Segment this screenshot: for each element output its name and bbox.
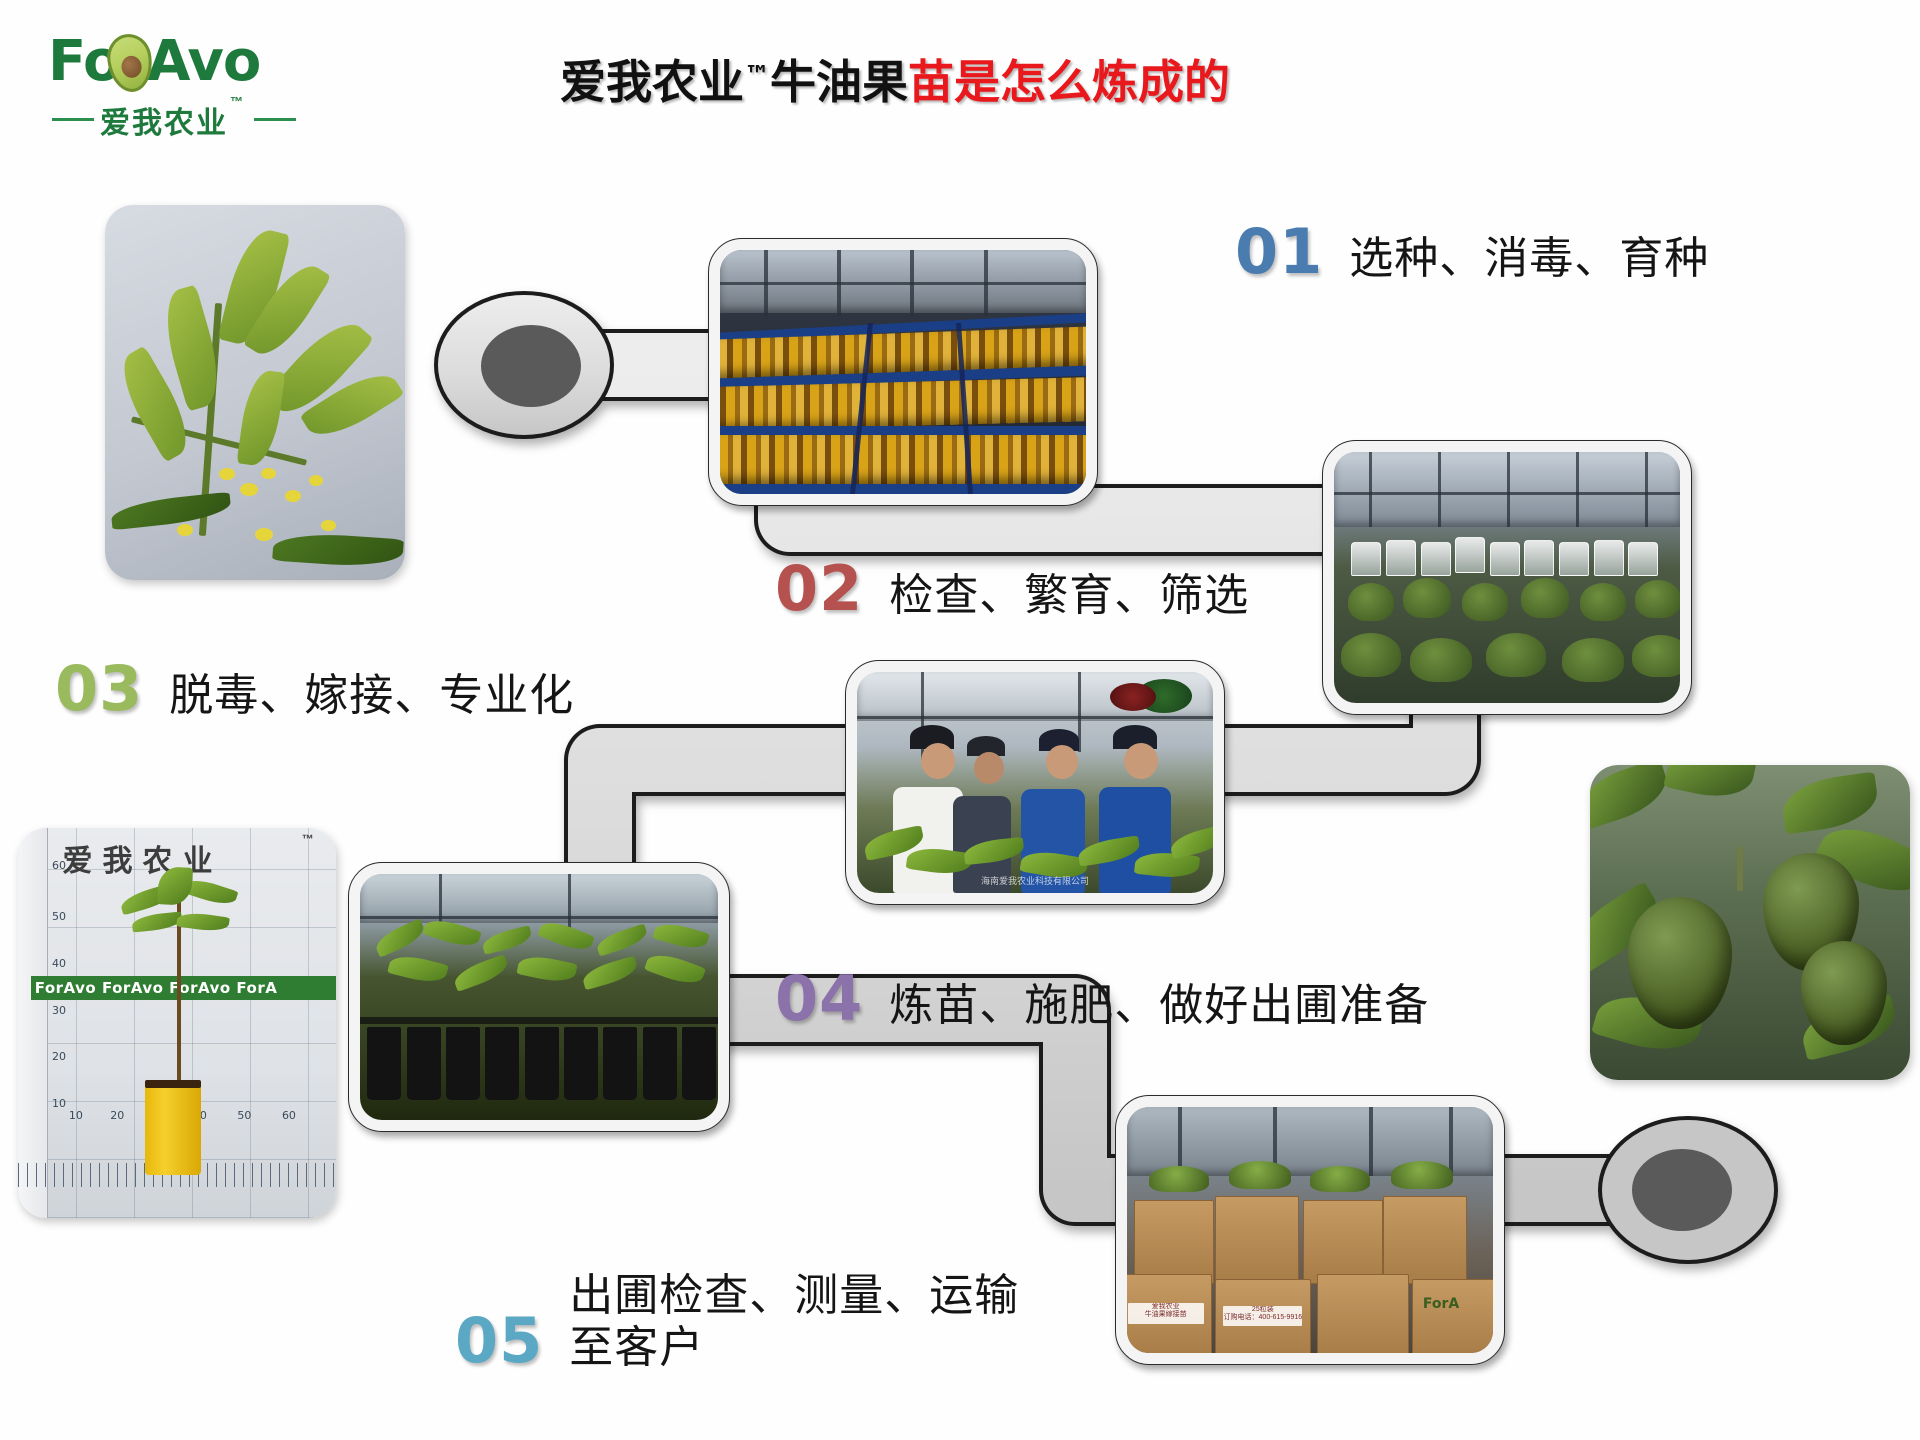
photo-bagged-plants (1322, 440, 1692, 715)
step-number-02: 02 (775, 552, 863, 625)
photo-potted-nursery (348, 862, 730, 1132)
photo-potted-nursery-image (360, 874, 718, 1120)
photo-avocado-fruit (1590, 765, 1910, 1080)
photo-watermark: 海南爱我农业科技有限公司 (857, 874, 1213, 887)
photo-staff-inspection-image: 海南爱我农业科技有限公司 (857, 672, 1213, 893)
box-label: 25粒装 订购电话：400-615-9916 (1223, 1306, 1302, 1326)
step-text-02: 检查、繁育、筛选 (889, 559, 1249, 623)
step-text-04: 炼苗、施肥、做好出圃准备 (889, 969, 1429, 1033)
step-text-01: 选种、消毒、育种 (1349, 222, 1709, 286)
ruler-backdrop-tm: ™ (302, 832, 314, 846)
photo-avocado-flowers-image (105, 205, 405, 580)
process-end-node-dot (1632, 1149, 1732, 1231)
photo-avocado-flowers (105, 205, 405, 580)
step-label-03: 03 脱毒、嫁接、专业化 (55, 652, 574, 725)
photo-avocado-fruit-image (1590, 765, 1910, 1080)
step-number-03: 03 (55, 652, 143, 725)
photo-seed-trays (708, 238, 1098, 506)
box-label: 爱我农业 牛油果嫁接苗 (1128, 1303, 1204, 1324)
step-text-05: 出圃检查、测量、运输 至客户 (569, 1270, 1019, 1374)
photo-shipping-boxes-image: 爱我农业 牛油果嫁接苗 25粒装 订购电话：400-615-9916 ForA (1127, 1107, 1493, 1353)
step-number-01: 01 (1235, 215, 1323, 288)
ruler-backdrop-header: 爱我农业 (63, 836, 223, 880)
photo-measured-seedling: 爱我农业 ™ 60 50 40 30 20 10 ForAvo ForAvo F… (18, 828, 336, 1218)
process-start-node-dot (481, 325, 581, 407)
step-number-04: 04 (775, 962, 863, 1035)
step-label-01: 01 选种、消毒、育种 (1235, 215, 1709, 288)
photo-staff-inspection: 海南爱我农业科技有限公司 (845, 660, 1225, 905)
step-text-03: 脱毒、嫁接、专业化 (169, 659, 574, 723)
step-label-02: 02 检查、繁育、筛选 (775, 552, 1249, 625)
photo-measured-seedling-image: 爱我农业 ™ 60 50 40 30 20 10 ForAvo ForAvo F… (18, 828, 336, 1218)
step-label-04: 04 炼苗、施肥、做好出圃准备 (775, 962, 1429, 1035)
photo-bagged-plants-image (1334, 452, 1680, 703)
ruler-backdrop-band: ForAvo ForAvo ForAvo ForA (31, 976, 336, 1000)
photo-shipping-boxes: 爱我农业 牛油果嫁接苗 25粒装 订购电话：400-615-9916 ForA (1115, 1095, 1505, 1365)
photo-seed-trays-image (720, 250, 1086, 494)
infographic-canvas: ForAvo 爱我农业 ™ 爱我农业™牛油果苗是怎么炼成的 (0, 0, 1920, 1440)
step-label-05: 05 出圃检查、测量、运输 至客户 (455, 1270, 1019, 1374)
step-number-05: 05 (455, 1304, 543, 1377)
